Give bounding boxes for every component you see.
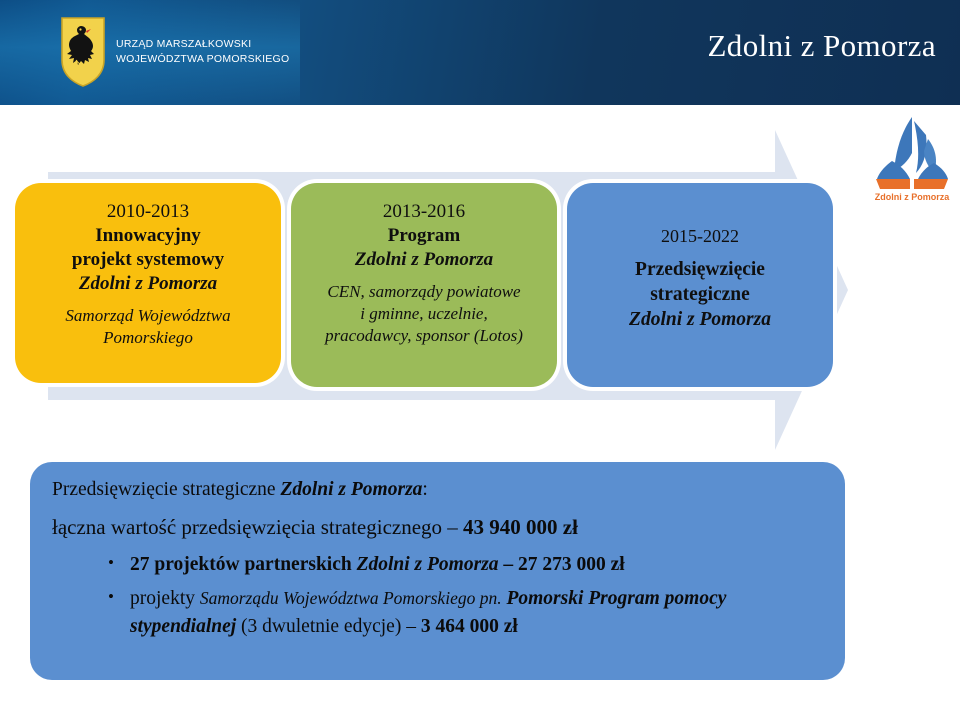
spacer (577, 248, 823, 257)
phase-years: 2015-2022 (577, 225, 823, 248)
phase-partners-line-3: pracodawcy, sponsor (Lotos) (301, 325, 547, 347)
summary-heading-suffix: : (422, 479, 427, 500)
phase-bold-line-2: projekt systemowy (25, 248, 271, 272)
phase-program-name: Zdolni z Pomorza (25, 272, 271, 296)
spacer (25, 296, 271, 305)
organization-branding: URZĄD MARSZAŁKOWSKI WOJEWÓDZTWA POMORSKI… (60, 16, 289, 88)
summary-heading: Przedsięwzięcie strategiczne Zdolni z Po… (52, 478, 821, 501)
pomeranian-griffin-crest-icon (60, 16, 106, 88)
phase-owner-line-2: Pomorskiego (25, 327, 271, 349)
bullet-2-owner: Samorządu Województwa Pomorskiego pn. (200, 588, 502, 608)
bullet-2-amount: 3 464 000 zł (421, 616, 518, 637)
phase-partners-line-2: i gminne, uczelnie, (301, 303, 547, 325)
phase-years: 2013-2016 (301, 200, 547, 224)
phase-bold-line-1: Program (301, 224, 547, 248)
list-item: • 27 projektów partnerskich Zdolni z Pom… (108, 551, 821, 579)
slide-header: URZĄD MARSZAŁKOWSKI WOJEWÓDZTWA POMORSKI… (0, 0, 960, 105)
phase-program-name: Zdolni z Pomorza (577, 307, 823, 332)
bullet-2-editions: (3 dwuletnie edycje) – (236, 616, 421, 637)
summary-heading-prefix: Przedsięwzięcie strategiczne (52, 479, 280, 500)
sailboat-book-logo-icon (876, 117, 948, 189)
bullet-1-part-1: 27 projektów partnerskich (130, 554, 357, 575)
crest-line-2: WOJEWÓDZTWA POMORSKIEGO (116, 52, 289, 67)
phase-bold-line-1: Innowacyjny (25, 224, 271, 248)
page-title: Zdolni z Pomorza (707, 28, 936, 64)
summary-total-line: łączna wartość przedsięwzięcia strategic… (52, 515, 821, 540)
summary-total-value: 43 940 000 zł (463, 515, 578, 539)
phase-bold-line-2: strategiczne (577, 282, 823, 307)
bullet-text: projekty Samorządu Województwa Pomorskie… (130, 585, 821, 642)
phase-box-2015-2022[interactable]: 2015-2022 Przedsięwzięcie strategiczne Z… (567, 183, 833, 387)
crest-line-1: URZĄD MARSZAŁKOWSKI (116, 37, 289, 52)
spacer (301, 272, 547, 281)
phase-box-2013-2016[interactable]: 2013-2016 Program Zdolni z Pomorza CEN, … (291, 183, 557, 387)
bullet-1-amount: – 27 273 000 zł (499, 554, 625, 575)
list-item: • projekty Samorządu Województwa Pomorsk… (108, 585, 821, 642)
bullet-text: 27 projektów partnerskich Zdolni z Pomor… (130, 551, 821, 579)
summary-info-box: Przedsięwzięcie strategiczne Zdolni z Po… (30, 462, 845, 680)
bullet-marker-icon: • (108, 585, 130, 610)
bullet-marker-icon: • (108, 551, 130, 576)
phase-partners-line-1: CEN, samorządy powiatowe (301, 281, 547, 303)
summary-heading-program: Zdolni z Pomorza (280, 479, 422, 500)
bullet-2-part-1: projekty (130, 588, 200, 609)
phase-years: 2010-2013 (25, 200, 271, 224)
phase-bold-line-1: Przedsięwzięcie (577, 257, 823, 282)
logo-caption: Zdolni z Pomorza (875, 192, 950, 202)
phase-program-name: Zdolni z Pomorza (301, 248, 547, 272)
bullet-1-program: Zdolni z Pomorza (357, 554, 499, 575)
phase-owner-line-1: Samorząd Województwa (25, 305, 271, 327)
phase-box-2010-2013[interactable]: 2010-2013 Innowacyjny projekt systemowy … (15, 183, 281, 383)
zdolni-z-pomorza-logo: Zdolni z Pomorza (872, 113, 952, 205)
summary-total-label: łączna wartość przedsięwzięcia strategic… (52, 515, 463, 539)
organization-name: URZĄD MARSZAŁKOWSKI WOJEWÓDZTWA POMORSKI… (116, 37, 289, 67)
